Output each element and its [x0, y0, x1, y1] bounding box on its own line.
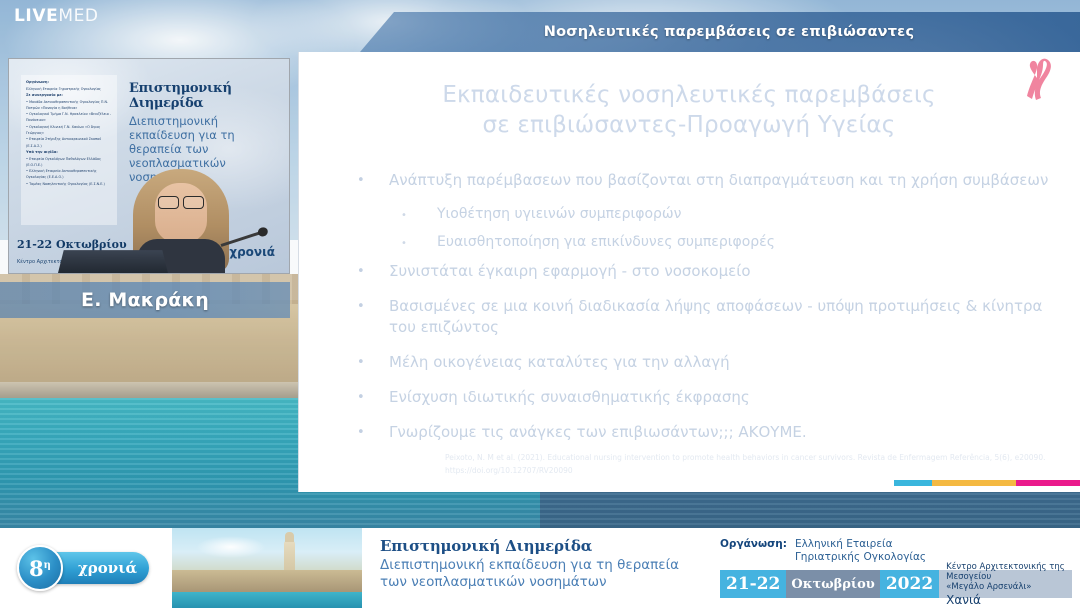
sub-bullet-marker-icon: •	[401, 205, 415, 227]
bullet-marker-icon: •	[357, 296, 371, 318]
video-list-label: Υπό την αιγίδα:	[26, 149, 112, 156]
accent-strip	[1016, 480, 1080, 486]
video-banner-heading: Επιστημονική Διημερίδα	[129, 81, 287, 111]
venue-building: «Μεγάλο Αρσενάλι»	[946, 582, 1031, 592]
photo-cloud	[196, 536, 266, 558]
video-list-item: • Ογκολογική Κλινική Γ.Ν. Χανίων «Ο Άγιο…	[26, 124, 112, 137]
slide-bullet-list: •Ανάπτυξη παρέμβασεων που βασίζονται στη…	[357, 170, 1057, 457]
slide-citation: Peixoto, N. M et al. (2021). Educational…	[445, 452, 1065, 478]
pink-ribbon-icon	[1020, 58, 1054, 112]
bottom-banner: 8η χρονιά Επιστημονική Διημερίδα Διεπιστ…	[0, 528, 1080, 608]
bullet-text: Βασισμένες σε μια κοινή διαδικασία λήψης…	[371, 296, 1057, 339]
bullet-text: Υιοθέτηση υγιεινών συμπεριφορών	[415, 205, 681, 225]
organiser-line-2: Γηριατρικής Ογκολογίας	[795, 551, 926, 564]
video-list-label: Σε συνεργασία με:	[26, 92, 112, 99]
bullet-text: Γνωρίζουμε τις ανάγκες των επιβιωσάντων;…	[371, 422, 807, 443]
video-banner-left-column: Οργάνωση: Ελληνική Εταιρεία Γηριατρικής …	[21, 75, 117, 225]
banner-heading: Επιστημονική Διημερίδα	[380, 537, 710, 555]
accent-strip	[932, 480, 1016, 486]
logo-bold-text: LIVE	[14, 6, 58, 26]
video-banner-date: 21-22 Οκτωβρίου	[17, 238, 127, 251]
video-list-item: • Εταιρεία Ογκολόγων Παθολόγων Ελλάδος (…	[26, 156, 112, 169]
bullet-item: •Βασισμένες σε μια κοινή διαδικασία λήψη…	[357, 296, 1057, 339]
badge-number: 8η	[29, 556, 51, 581]
video-list-item: • Τομέας Νοσηλευτικής Ογκολογίας (Ε.Σ.Ν.…	[26, 181, 112, 187]
bullet-text: Ευαισθητοποίηση για επικίνδυνες συμπεριφ…	[415, 233, 775, 253]
bullet-marker-icon: •	[357, 422, 371, 444]
bullet-marker-icon: •	[357, 170, 371, 192]
session-title-bar: Νοσηλευτικές παρεμβάσεις σε επιβιώσαντες	[360, 12, 1080, 52]
event-venue: Κέντρο Αρχιτεκτονικής της Μεσογείου «Μεγ…	[939, 570, 1072, 598]
badge-word: χρονιά	[78, 559, 137, 577]
bullet-item: •Ανάπτυξη παρέμβασεων που βασίζονται στη…	[357, 170, 1057, 192]
photo-sea	[172, 592, 362, 608]
organiser-line-1: Ελληνική Εταιρεία	[795, 538, 926, 551]
accent-strip	[894, 480, 932, 486]
livemed-logo: LIVEMED	[14, 6, 99, 26]
venue-city: Χανιά	[946, 593, 981, 607]
video-banner-chronia: χρονιά	[229, 245, 275, 259]
banner-subheading: Διεπιστημονική εκπαίδευση για τη θεραπεί…	[380, 557, 710, 592]
event-date-range: 21-22	[720, 570, 786, 598]
slide-title: Εκπαιδευτικές νοσηλευτικές παρεμβάσεις σ…	[359, 80, 1019, 141]
badge-number-value: 8	[29, 556, 44, 581]
banner-organiser-block: Οργάνωση: Ελληνική Εταιρεία Γηριατρικής …	[710, 528, 1080, 608]
badge-ordinal: η	[44, 560, 51, 571]
venue-line-1: Κέντρο Αρχιτεκτονικής της Μεσογείου	[946, 562, 1065, 582]
slide-title-line-2: σε επιβιώσαντες-Προαγωγή Υγείας	[359, 110, 1019, 140]
citation-doi: https://doi.org/10.12707/RV20090	[445, 465, 1065, 478]
banner-event-text: Επιστημονική Διημερίδα Διεπιστημονική εκ…	[362, 528, 710, 608]
bullet-text: Ενίσχυση ιδιωτικής συναισθηματικής έκφρα…	[371, 387, 750, 408]
presenter-glasses-icon	[158, 196, 204, 207]
video-list-item: • Μονάδα Ακτινοθεραπευτικής Ογκολογίας Π…	[26, 99, 112, 112]
bullet-text: Ανάπτυξη παρέμβασεων που βασίζονται στη …	[371, 170, 1048, 191]
badge-pill: 8η χρονιά	[23, 552, 149, 584]
speaker-video[interactable]: Οργάνωση: Ελληνική Εταιρεία Γηριατρικής …	[8, 58, 290, 274]
bullet-item: •Ευαισθητοποίηση για επικίνδυνες συμπερι…	[357, 233, 1057, 255]
bullet-text: Συνιστάται έγκαιρη εφαρμογή - στο νοσοκο…	[371, 261, 751, 282]
speaker-name: Ε. Μακράκη	[81, 289, 209, 311]
slide-title-line-1: Εκπαιδευτικές νοσηλευτικές παρεμβάσεις	[359, 80, 1019, 110]
banner-sub-line-1: Διεπιστημονική εκπαίδευση για τη θεραπεί…	[380, 557, 710, 574]
screen: LIVEMED Νοσηλευτικές παρεμβάσεις σε επιβ…	[0, 0, 1080, 608]
podium-laptop	[58, 250, 168, 273]
video-list-item: • Ογκολογικό Τμήμα Γ.Ν. Ηρακλείου «Βενιζ…	[26, 111, 112, 124]
video-org-label: Οργάνωση:	[26, 79, 112, 86]
logo-light-text: MED	[58, 6, 98, 26]
organiser-row: Οργάνωση: Ελληνική Εταιρεία Γηριατρικής …	[720, 538, 1072, 564]
bullet-item: •Συνιστάται έγκαιρη εφαρμογή - στο νοσοκ…	[357, 261, 1057, 283]
presentation-slide[interactable]: Εκπαιδευτικές νοσηλευτικές παρεμβάσεις σ…	[298, 52, 1080, 492]
bullet-marker-icon: •	[357, 387, 371, 409]
event-date-month: Οκτωβρίου	[786, 570, 879, 598]
citation-reference: Peixoto, N. M et al. (2021). Educational…	[445, 452, 1065, 465]
session-title: Νοσηλευτικές παρεμβάσεις σε επιβιώσαντες	[526, 24, 915, 40]
venue-line-2: «Μεγάλο Αρσενάλι» Χανιά	[946, 582, 1065, 607]
organiser-value: Ελληνική Εταιρεία Γηριατρικής Ογκολογίας	[795, 538, 926, 564]
slide-accent-strips	[894, 480, 1080, 486]
banner-sub-line-2: των νεοπλασματικών νοσημάτων	[380, 574, 710, 591]
video-list-item: • Ελληνική Εταιρεία Ακτινοθεραπευτικής Ο…	[26, 168, 112, 181]
bullet-text: Μέλη οικογένειας καταλύτες για την αλλαγ…	[371, 352, 730, 373]
video-list-item: • Εταιρεία Στήριξης Αντικαρκινικού Σκοπο…	[26, 136, 112, 149]
event-date-bar: 21-22 Οκτωβρίου 2022 Κέντρο Αρχιτεκτονικ…	[720, 570, 1072, 598]
video-org-value: Ελληνική Εταιρεία Γηριατρικής Ογκολογίας	[26, 87, 101, 91]
photo-fortress-wall	[172, 570, 362, 592]
bullet-item: •Γνωρίζουμε τις ανάγκες των επιβιωσάντων…	[357, 422, 1057, 444]
anniversary-badge: 8η χρονιά	[0, 528, 172, 608]
organiser-label: Οργάνωση:	[720, 538, 787, 550]
event-date-year: 2022	[880, 570, 939, 598]
bullet-item: •Ενίσχυση ιδιωτικής συναισθηματικής έκφρ…	[357, 387, 1057, 409]
badge-circle: 8η	[17, 545, 63, 591]
bullet-item: •Υιοθέτηση υγιεινών συμπεριφορών	[357, 205, 1057, 227]
banner-harbour-photo	[172, 528, 362, 608]
bullet-item: •Μέλη οικογένειας καταλύτες για την αλλα…	[357, 352, 1057, 374]
bullet-marker-icon: •	[357, 261, 371, 283]
sub-bullet-marker-icon: •	[401, 233, 415, 255]
bullet-marker-icon: •	[357, 352, 371, 374]
presenter-face	[155, 183, 207, 243]
speaker-nameplate: Ε. Μακράκη	[0, 282, 290, 318]
